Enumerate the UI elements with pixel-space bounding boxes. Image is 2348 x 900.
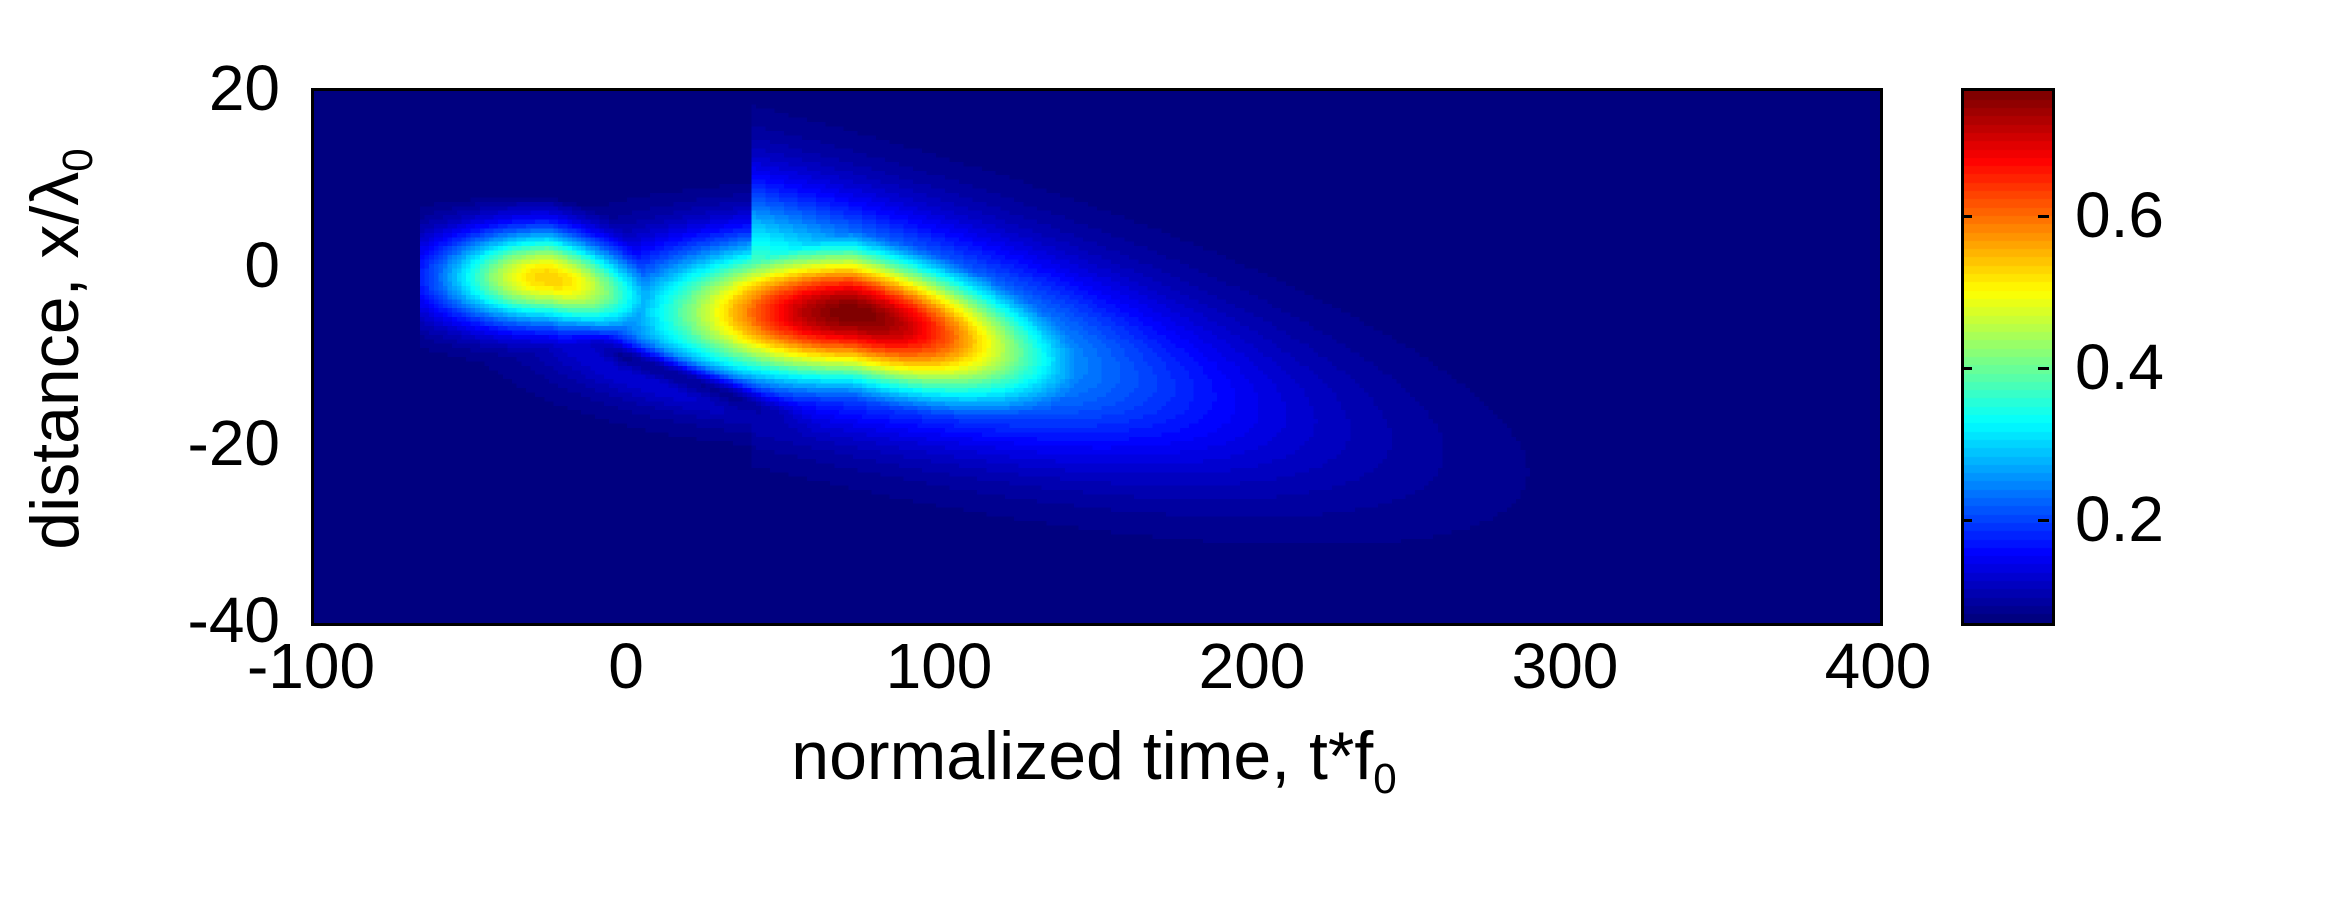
xtick-label-400: 400 — [1825, 634, 1932, 698]
x-axis-title: normalized time, t*f0 — [311, 716, 1877, 805]
x-axis-title-text: normalized time, t*f — [791, 718, 1373, 794]
ytick-label-20: 20 — [120, 56, 280, 120]
xtick-label-minus100: -100 — [247, 634, 375, 698]
ctick-mark-left-0_4 — [1961, 367, 1972, 370]
ytick-label-0: 0 — [120, 233, 280, 297]
y-axis-title: distance, x/λ0 — [10, 0, 109, 729]
colorbar — [1961, 88, 2055, 626]
x-axis-title-subscript: 0 — [1373, 755, 1396, 802]
ctick-mark-0_6 — [2038, 215, 2049, 218]
xtick-label-300: 300 — [1512, 634, 1619, 698]
ctick-label-0_2: 0.2 — [2075, 487, 2164, 551]
ctick-mark-left-0_2 — [1961, 519, 1972, 522]
xtick-label-100: 100 — [886, 634, 993, 698]
xtick-label-200: 200 — [1199, 634, 1306, 698]
heatmap-plot-area — [311, 88, 1883, 626]
y-axis-title-subscript: 0 — [54, 148, 101, 171]
ctick-label-0_6: 0.6 — [2075, 183, 2164, 247]
ytick-label-minus20: -20 — [120, 411, 280, 475]
ctick-mark-left-0_6 — [1961, 215, 1972, 218]
heatmap-image — [314, 91, 1880, 623]
ctick-mark-0_4 — [2038, 367, 2049, 370]
y-axis-title-wrapper: distance, x/λ0 — [10, 0, 100, 729]
figure-canvas: 20 0 -20 -40 -100 0 100 200 300 400 norm… — [0, 0, 2348, 900]
xtick-label-0: 0 — [608, 634, 644, 698]
y-axis-title-text: distance, x/λ — [17, 172, 93, 550]
ctick-mark-0_2 — [2038, 519, 2049, 522]
colorbar-gradient — [1964, 91, 2052, 623]
ctick-label-0_4: 0.4 — [2075, 335, 2164, 399]
